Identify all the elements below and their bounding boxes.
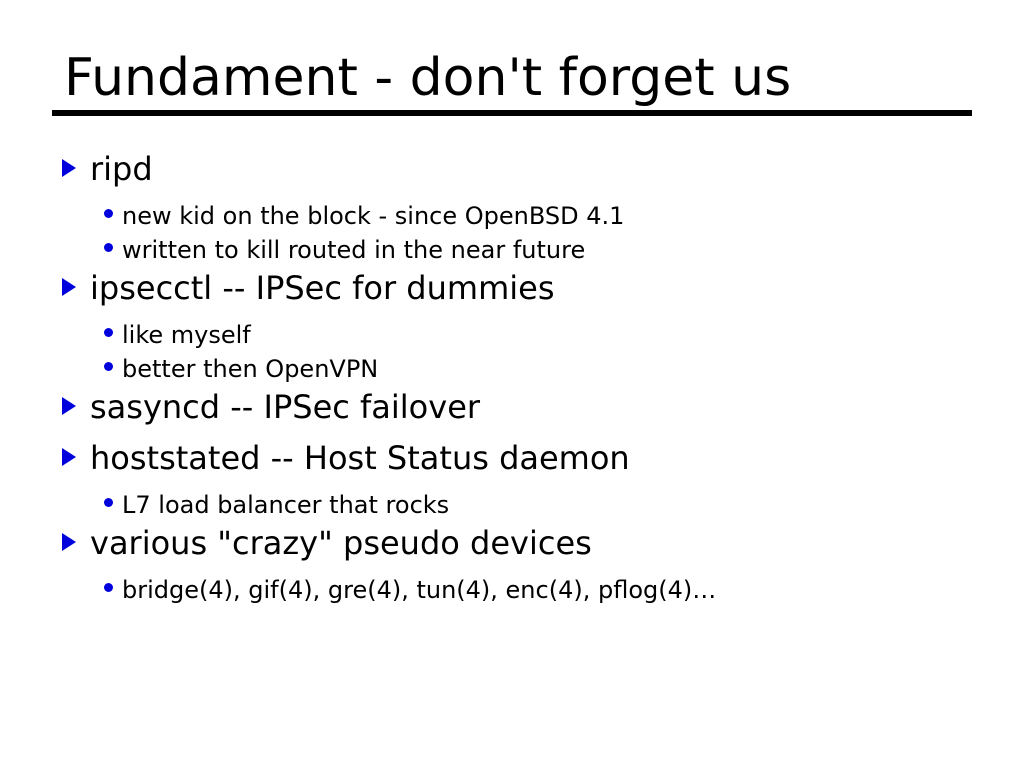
triangle-right-bullet-icon (62, 448, 90, 471)
triangle-right-bullet-icon (62, 159, 90, 182)
outline-item-label: ripd (90, 150, 153, 188)
outline-item-label: L7 load balancer that rocks (122, 490, 449, 520)
triangle-right-bullet-icon (62, 278, 90, 301)
outline-item-level1: various "crazy" pseudo devices (62, 524, 982, 575)
dot-glyph (104, 362, 113, 371)
outline-item-level1: ripd (62, 150, 982, 201)
outline-item-label: hoststated -- Host Status daemon (90, 439, 630, 477)
round-bullet-icon (104, 209, 122, 228)
triangle-glyph (62, 448, 76, 466)
triangle-glyph (62, 397, 76, 415)
dot-glyph (104, 328, 113, 337)
outline-item-label: written to kill routed in the near futur… (122, 235, 585, 265)
triangle-glyph (62, 278, 76, 296)
outline-item-level2: bridge(4), gif(4), gre(4), tun(4), enc(4… (62, 575, 982, 609)
outline-item-label: sasyncd -- IPSec failover (90, 388, 480, 426)
triangle-glyph (62, 533, 76, 551)
outline-item-label: bridge(4), gif(4), gre(4), tun(4), enc(4… (122, 575, 716, 605)
round-bullet-icon (104, 328, 122, 347)
outline-item-label: ipsecctl -- IPSec for dummies (90, 269, 554, 307)
outline-item-level1: hoststated -- Host Status daemon (62, 439, 982, 490)
title-block: Fundament - don't forget us (52, 48, 972, 108)
outline-item-level2: like myself (62, 320, 982, 354)
triangle-glyph (62, 159, 76, 177)
outline-item-level2: written to kill routed in the near futur… (62, 235, 982, 269)
outline-item-level2: better then OpenVPN (62, 354, 982, 388)
round-bullet-icon (104, 498, 122, 517)
dot-glyph (104, 243, 113, 252)
outline-item-label: various "crazy" pseudo devices (90, 524, 592, 562)
outline-item-level2: new kid on the block - since OpenBSD 4.1 (62, 201, 982, 235)
triangle-right-bullet-icon (62, 533, 90, 556)
outline-item-label: new kid on the block - since OpenBSD 4.1 (122, 201, 624, 231)
triangle-right-bullet-icon (62, 397, 90, 420)
round-bullet-icon (104, 583, 122, 602)
title-underline-rule (52, 110, 972, 116)
outline-item-label: like myself (122, 320, 251, 350)
page-title: Fundament - don't forget us (52, 48, 972, 108)
dot-glyph (104, 209, 113, 218)
outline-list: ripdnew kid on the block - since OpenBSD… (62, 150, 982, 609)
round-bullet-icon (104, 243, 122, 262)
dot-glyph (104, 583, 113, 592)
outline-item-level2: L7 load balancer that rocks (62, 490, 982, 524)
outline-item-level1: ipsecctl -- IPSec for dummies (62, 269, 982, 320)
outline-item-level1: sasyncd -- IPSec failover (62, 388, 982, 439)
dot-glyph (104, 498, 113, 507)
round-bullet-icon (104, 362, 122, 381)
outline-item-label: better then OpenVPN (122, 354, 378, 384)
slide-canvas: Fundament - don't forget us ripdnew kid … (0, 0, 1024, 768)
